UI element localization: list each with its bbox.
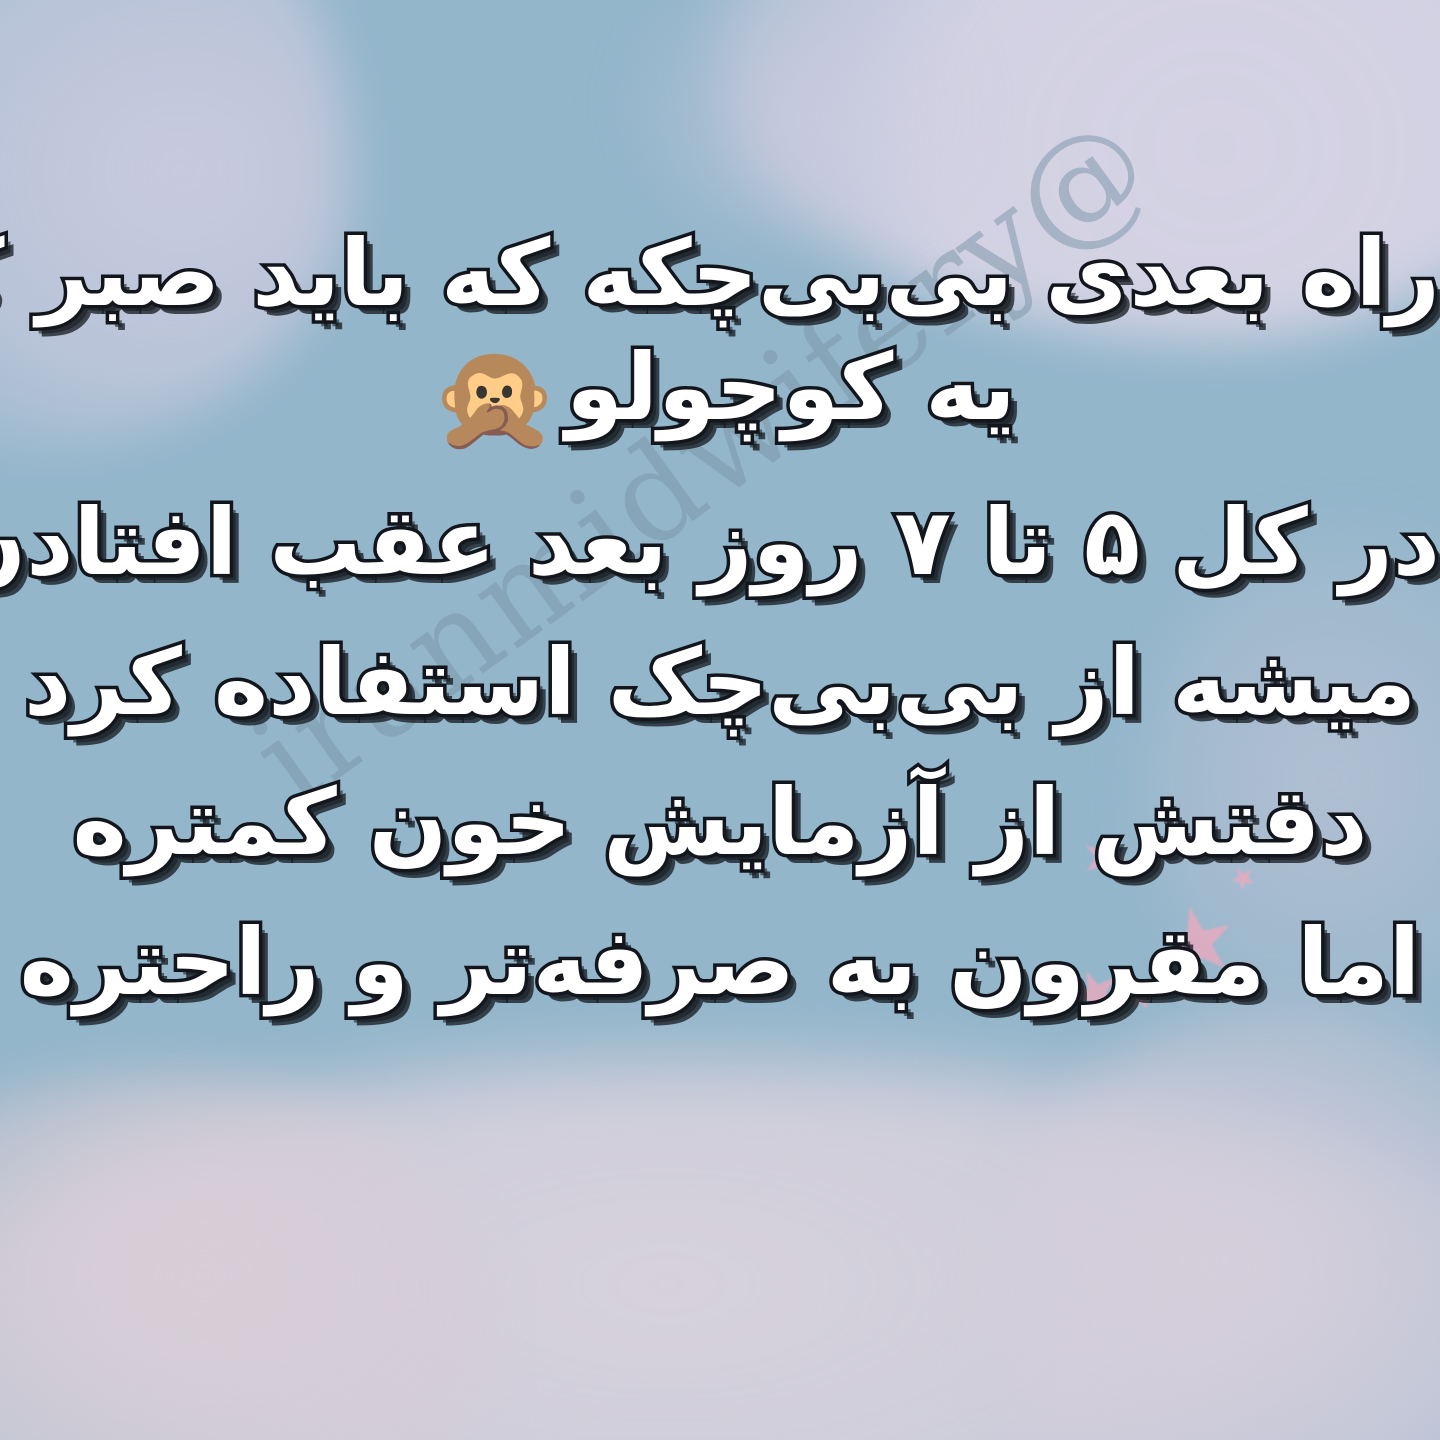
post-line-5: دقتش از آزمایش خون کمتره bbox=[0, 777, 1440, 869]
post-line-4: میشه از بی‌بی‌چک استفاده کرد bbox=[0, 637, 1440, 729]
watercolor-wash-top-middle bbox=[620, 0, 980, 240]
post-line-6: اما مقرون به صرفه‌تر و راحتره bbox=[0, 917, 1440, 1009]
watercolor-wash-left-middle bbox=[0, 1100, 320, 1400]
watercolor-wash-bottom bbox=[0, 1060, 1440, 1440]
post-canvas: ★ ★ ★ ★ ★ @iranmidwifery راه بعدی بی‌بی‌… bbox=[0, 0, 1440, 1440]
watercolor-wash-bottom-right bbox=[990, 1010, 1440, 1440]
watercolor-wash-bottom-left bbox=[0, 1070, 490, 1440]
post-line-2-text: یه کوچولو bbox=[566, 334, 1016, 441]
post-line-3: در کل ۵ تا ۷ روز بعد عقب افتادن پریود bbox=[0, 497, 1440, 589]
post-text-block: راه بعدی بی‌بی‌چکه که باید صبر کنی یه کو… bbox=[0, 228, 1440, 1009]
post-line-1: راه بعدی بی‌بی‌چکه که باید صبر کنی bbox=[0, 228, 1440, 320]
post-line-2: یه کوچولو🙊 bbox=[0, 342, 1440, 449]
speak-no-evil-monkey-emoji: 🙊 bbox=[424, 336, 566, 458]
